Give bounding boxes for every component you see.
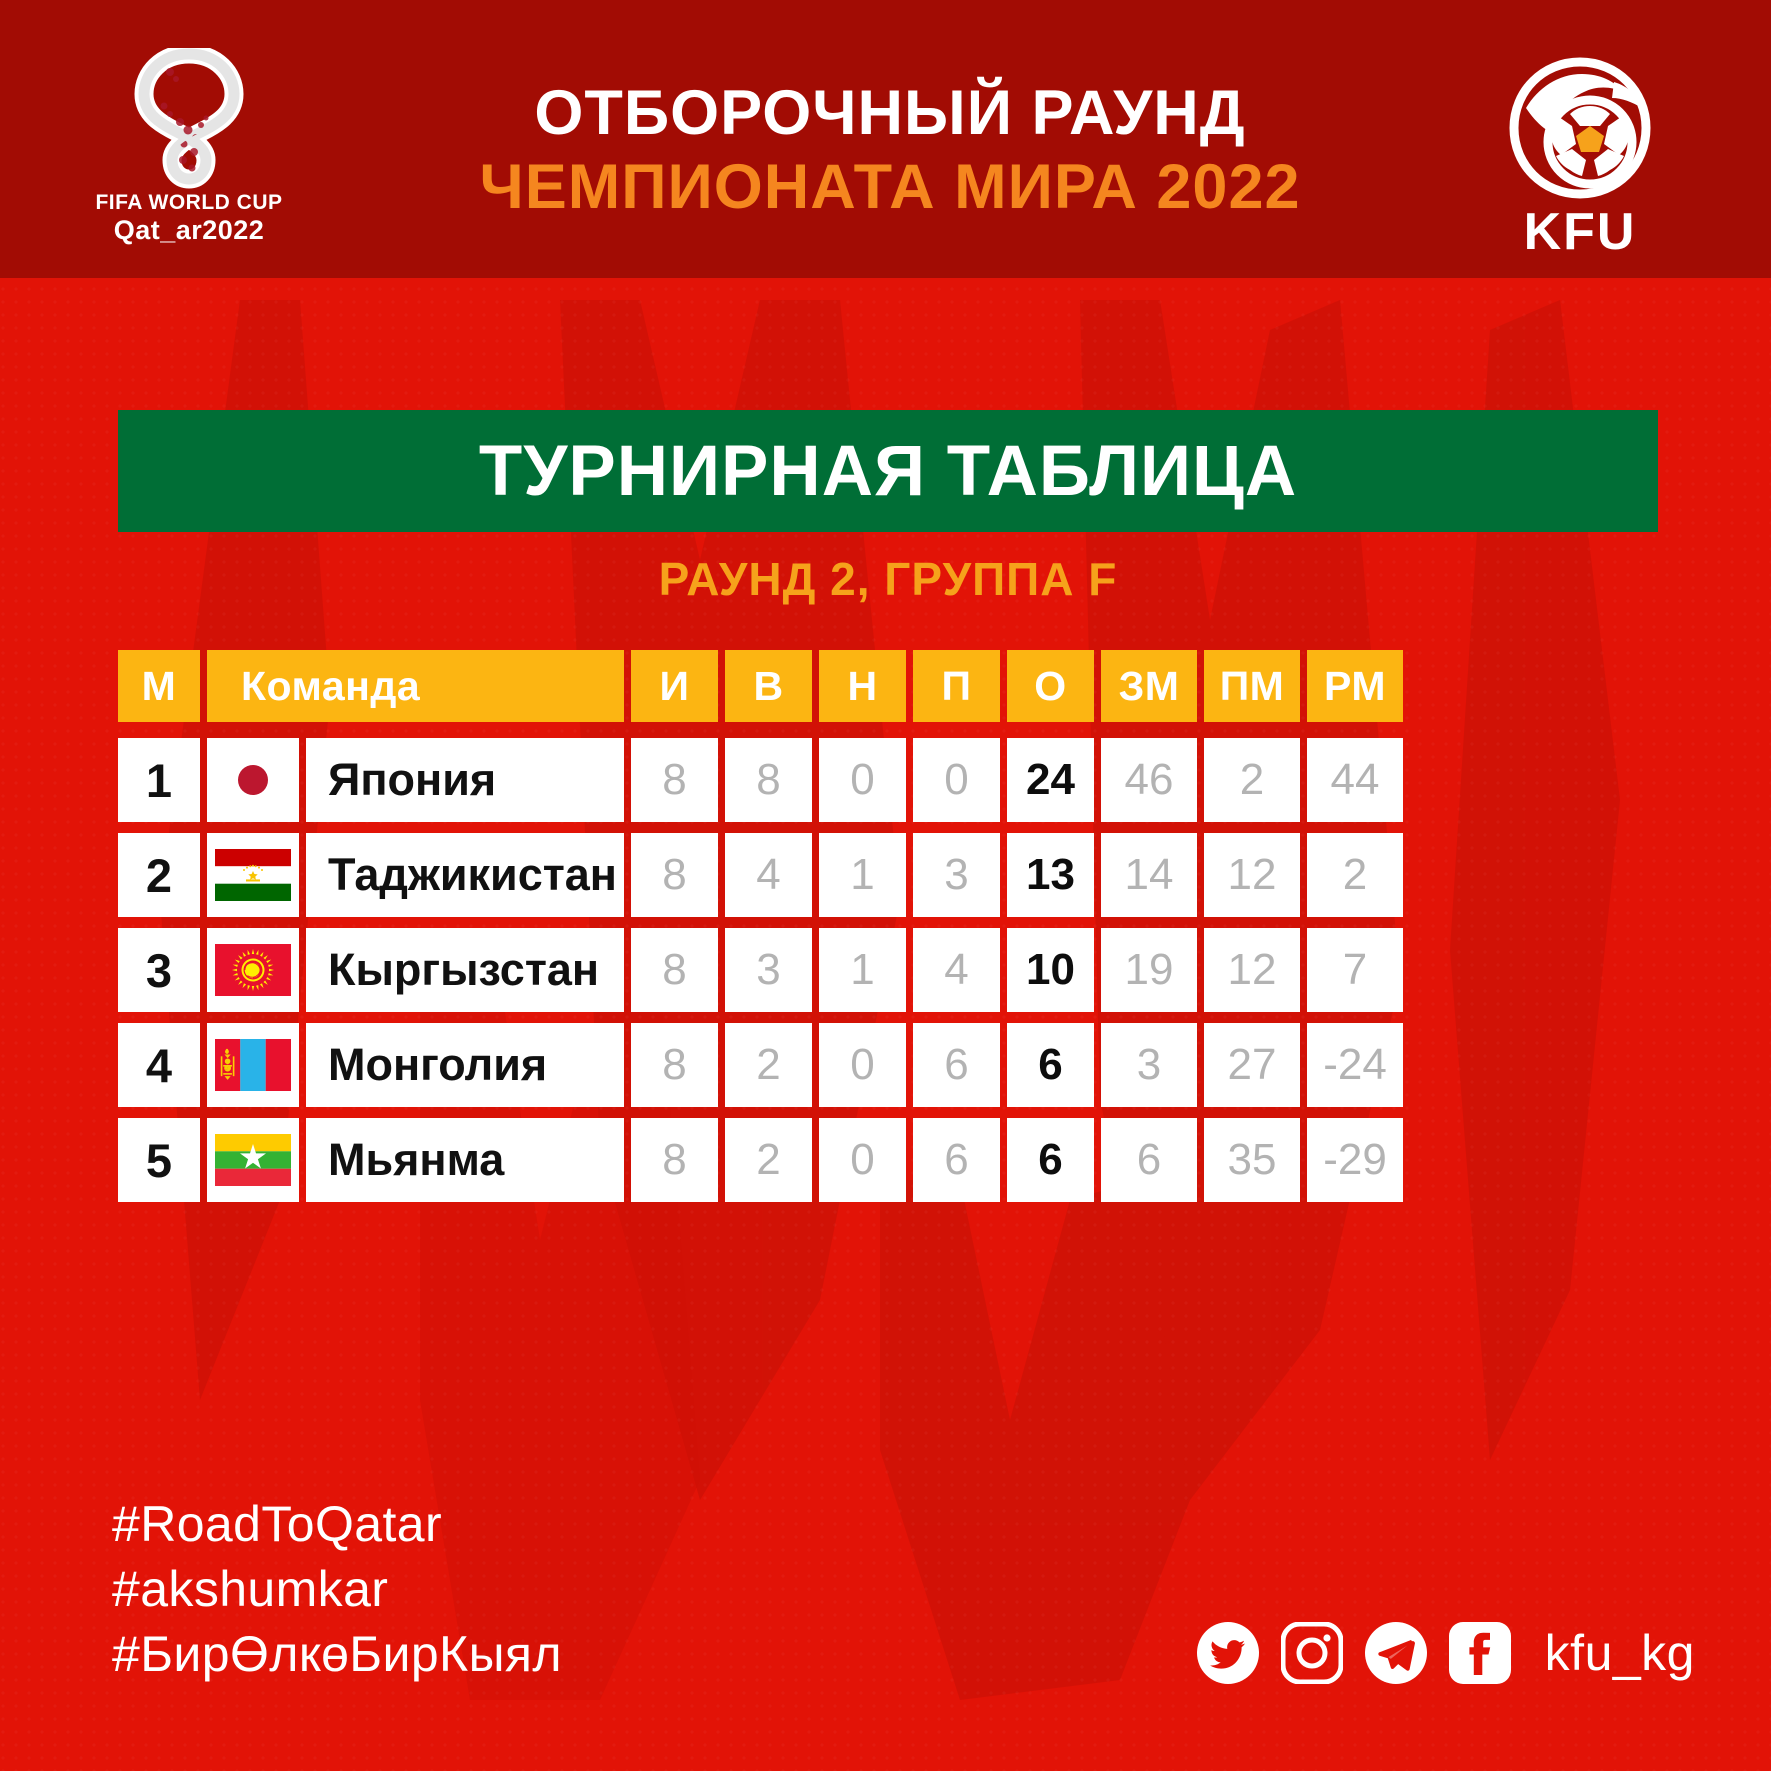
table-row: 2 Таджикистан 8 4 bbox=[118, 833, 1658, 917]
round-group-subtitle: РАУНД 2, ГРУППА F bbox=[118, 552, 1658, 606]
points-value: 13 bbox=[1026, 850, 1075, 900]
stat-value: -29 bbox=[1323, 1135, 1387, 1185]
rank-value: 4 bbox=[146, 1038, 172, 1093]
cell-goal-diff: 44 bbox=[1307, 738, 1403, 822]
cell-rank: 4 bbox=[118, 1023, 200, 1107]
stat-value: 3 bbox=[944, 850, 968, 900]
stat-value: 0 bbox=[850, 1135, 874, 1185]
social-handle: kfu_kg bbox=[1545, 1624, 1695, 1682]
cell-team: Мьянма bbox=[306, 1118, 624, 1202]
stat-value: 1 bbox=[850, 945, 874, 995]
cell-flag bbox=[207, 833, 299, 917]
telegram-icon[interactable] bbox=[1365, 1622, 1427, 1684]
cell-rank: 5 bbox=[118, 1118, 200, 1202]
cell-losses: 3 bbox=[913, 833, 1000, 917]
cell-goals-for: 6 bbox=[1101, 1118, 1197, 1202]
kyrgyzstan-flag bbox=[215, 944, 291, 996]
cell-wins: 8 bbox=[725, 738, 812, 822]
team-name: Мьянма bbox=[328, 1134, 504, 1186]
cell-wins: 4 bbox=[725, 833, 812, 917]
column-header-rank: М bbox=[118, 650, 200, 722]
cell-goals-for: 19 bbox=[1101, 928, 1197, 1012]
cell-goal-diff: 7 bbox=[1307, 928, 1403, 1012]
column-header-draws: Н bbox=[819, 650, 906, 722]
stat-value: 2 bbox=[756, 1135, 780, 1185]
points-value: 6 bbox=[1038, 1040, 1062, 1090]
stat-value: 12 bbox=[1228, 850, 1277, 900]
stat-value: 8 bbox=[662, 755, 686, 805]
cell-goals-against: 27 bbox=[1204, 1023, 1300, 1107]
social-links: kfu_kg bbox=[1197, 1622, 1695, 1684]
cell-goals-for: 46 bbox=[1101, 738, 1197, 822]
header-bar: FIFA WORLD CUP Qat_ar2022 ОТБОРОЧНЫЙ РАУ… bbox=[0, 0, 1771, 278]
stat-value: 35 bbox=[1228, 1135, 1277, 1185]
column-header-goals-against: ПМ bbox=[1204, 650, 1300, 722]
fifa-trophy-ribbon-icon bbox=[84, 48, 294, 190]
team-name: Япония bbox=[328, 754, 496, 806]
column-header-losses: П bbox=[913, 650, 1000, 722]
cell-points: 6 bbox=[1007, 1118, 1094, 1202]
cell-draws: 0 bbox=[819, 1118, 906, 1202]
standings-table: М Команда И В Н П О ЗМ ПМ РМ 1 Япония 8 … bbox=[118, 650, 1658, 1202]
cell-losses: 6 bbox=[913, 1118, 1000, 1202]
table-row: 4 bbox=[118, 1023, 1658, 1107]
cell-draws: 1 bbox=[819, 833, 906, 917]
tajikistan-flag bbox=[215, 849, 291, 901]
hashtag-item: #RoadToQatar bbox=[112, 1492, 562, 1557]
stat-value: 8 bbox=[662, 1040, 686, 1090]
kfu-logo: KFU bbox=[1485, 52, 1675, 258]
cell-played: 8 bbox=[631, 1023, 718, 1107]
points-value: 24 bbox=[1026, 755, 1075, 805]
cell-wins: 2 bbox=[725, 1023, 812, 1107]
stat-value: 2 bbox=[1240, 755, 1264, 805]
stat-value: 8 bbox=[756, 755, 780, 805]
column-header-points: О bbox=[1007, 650, 1094, 722]
stat-value: 3 bbox=[1137, 1040, 1161, 1090]
cell-team: Япония bbox=[306, 738, 624, 822]
cell-points: 24 bbox=[1007, 738, 1094, 822]
fifa-logo-line2: Qat_ar2022 bbox=[84, 217, 294, 244]
stat-value: 8 bbox=[662, 1135, 686, 1185]
stat-value: 14 bbox=[1125, 850, 1174, 900]
header-title-line1: ОТБОРОЧНЫЙ РАУНД bbox=[330, 76, 1450, 150]
cell-points: 10 bbox=[1007, 928, 1094, 1012]
cell-flag bbox=[207, 928, 299, 1012]
cell-goals-against: 12 bbox=[1204, 928, 1300, 1012]
cell-rank: 1 bbox=[118, 738, 200, 822]
hashtag-item: #akshumkar bbox=[112, 1557, 562, 1622]
stat-value: 6 bbox=[1137, 1135, 1161, 1185]
stat-value: 6 bbox=[944, 1040, 968, 1090]
cell-goals-for: 14 bbox=[1101, 833, 1197, 917]
column-header-goals-for: ЗМ bbox=[1101, 650, 1197, 722]
stat-value: 44 bbox=[1331, 755, 1380, 805]
instagram-icon[interactable] bbox=[1281, 1622, 1343, 1684]
cell-draws: 0 bbox=[819, 738, 906, 822]
stat-value: 6 bbox=[944, 1135, 968, 1185]
stat-value: 0 bbox=[850, 755, 874, 805]
cell-flag bbox=[207, 1023, 299, 1107]
team-name: Монголия bbox=[328, 1039, 547, 1091]
cell-wins: 2 bbox=[725, 1118, 812, 1202]
cell-goals-against: 12 bbox=[1204, 833, 1300, 917]
cell-team: Кыргызстан bbox=[306, 928, 624, 1012]
stat-value: 12 bbox=[1228, 945, 1277, 995]
stat-value: 2 bbox=[1343, 850, 1367, 900]
table-header-row: М Команда И В Н П О ЗМ ПМ РМ bbox=[118, 650, 1658, 722]
cell-wins: 3 bbox=[725, 928, 812, 1012]
mongolia-flag bbox=[215, 1039, 291, 1091]
kfu-falcon-ball-icon bbox=[1504, 52, 1656, 204]
cell-losses: 6 bbox=[913, 1023, 1000, 1107]
stat-value: 3 bbox=[756, 945, 780, 995]
stat-value: 19 bbox=[1125, 945, 1174, 995]
table-row: 3 bbox=[118, 928, 1658, 1012]
cell-points: 6 bbox=[1007, 1023, 1094, 1107]
cell-rank: 3 bbox=[118, 928, 200, 1012]
cell-goals-for: 3 bbox=[1101, 1023, 1197, 1107]
cell-played: 8 bbox=[631, 833, 718, 917]
stat-value: 8 bbox=[662, 945, 686, 995]
stat-value: 4 bbox=[944, 945, 968, 995]
stat-value: 0 bbox=[944, 755, 968, 805]
fifa-logo-wordmark: FIFA WORLD CUP Qat_ar2022 bbox=[84, 192, 294, 244]
table-row: 1 Япония 8 8 0 0 24 46 2 44 bbox=[118, 738, 1658, 822]
points-value: 6 bbox=[1038, 1135, 1062, 1185]
rank-value: 3 bbox=[146, 943, 172, 998]
cell-losses: 4 bbox=[913, 928, 1000, 1012]
cell-losses: 0 bbox=[913, 738, 1000, 822]
stat-value: 7 bbox=[1343, 945, 1367, 995]
column-header-played: И bbox=[631, 650, 718, 722]
points-value: 10 bbox=[1026, 945, 1075, 995]
cell-goal-diff: 2 bbox=[1307, 833, 1403, 917]
cell-goal-diff: -24 bbox=[1307, 1023, 1403, 1107]
cell-flag bbox=[207, 1118, 299, 1202]
stat-value: 2 bbox=[756, 1040, 780, 1090]
facebook-icon[interactable] bbox=[1449, 1622, 1511, 1684]
rank-value: 5 bbox=[146, 1133, 172, 1188]
fifa-world-cup-logo: FIFA WORLD CUP Qat_ar2022 bbox=[84, 48, 294, 238]
stat-value: 46 bbox=[1125, 755, 1174, 805]
team-name: Кыргызстан bbox=[328, 944, 599, 996]
standings-title-text: ТУРНИРНАЯ ТАБЛИЦА bbox=[479, 431, 1297, 512]
header-title-line2: ЧЕМПИОНАТА МИРА 2022 bbox=[330, 150, 1450, 224]
hashtag-item: #БирӨлкөБирКыял bbox=[112, 1622, 562, 1687]
cell-draws: 0 bbox=[819, 1023, 906, 1107]
poster-canvas: FIFA WORLD CUP Qat_ar2022 ОТБОРОЧНЫЙ РАУ… bbox=[0, 0, 1771, 1771]
cell-rank: 2 bbox=[118, 833, 200, 917]
cell-goals-against: 35 bbox=[1204, 1118, 1300, 1202]
column-header-goal-diff: РМ bbox=[1307, 650, 1403, 722]
cell-team: Монголия bbox=[306, 1023, 624, 1107]
rank-value: 2 bbox=[146, 848, 172, 903]
cell-played: 8 bbox=[631, 928, 718, 1012]
stat-value: 1 bbox=[850, 850, 874, 900]
rank-value: 1 bbox=[146, 753, 172, 808]
column-header-team: Команда bbox=[207, 650, 624, 722]
stat-value: 27 bbox=[1228, 1040, 1277, 1090]
standings-title-bar: ТУРНИРНАЯ ТАБЛИЦА bbox=[118, 410, 1658, 532]
stat-value: 8 bbox=[662, 850, 686, 900]
fifa-logo-line1: FIFA WORLD CUP bbox=[84, 192, 294, 213]
column-header-wins: В bbox=[725, 650, 812, 722]
stat-value: -24 bbox=[1323, 1040, 1387, 1090]
header-title: ОТБОРОЧНЫЙ РАУНД ЧЕМПИОНАТА МИРА 2022 bbox=[330, 76, 1450, 225]
stat-value: 4 bbox=[756, 850, 780, 900]
table-row: 5 Мьянма 8 2 0 6 6 6 35 -29 bbox=[118, 1118, 1658, 1202]
cell-draws: 1 bbox=[819, 928, 906, 1012]
cell-team: Таджикистан bbox=[306, 833, 624, 917]
cell-goals-against: 2 bbox=[1204, 738, 1300, 822]
cell-played: 8 bbox=[631, 1118, 718, 1202]
cell-flag bbox=[207, 738, 299, 822]
cell-goal-diff: -29 bbox=[1307, 1118, 1403, 1202]
hashtag-list: #RoadToQatar #akshumkar #БирӨлкөБирКыял bbox=[112, 1492, 562, 1687]
myanmar-flag bbox=[215, 1134, 291, 1186]
kfu-logo-label: KFU bbox=[1485, 206, 1675, 258]
cell-points: 13 bbox=[1007, 833, 1094, 917]
stat-value: 0 bbox=[850, 1040, 874, 1090]
cell-played: 8 bbox=[631, 738, 718, 822]
twitter-icon[interactable] bbox=[1197, 1622, 1259, 1684]
team-name: Таджикистан bbox=[328, 849, 617, 901]
japan-flag bbox=[215, 754, 291, 806]
